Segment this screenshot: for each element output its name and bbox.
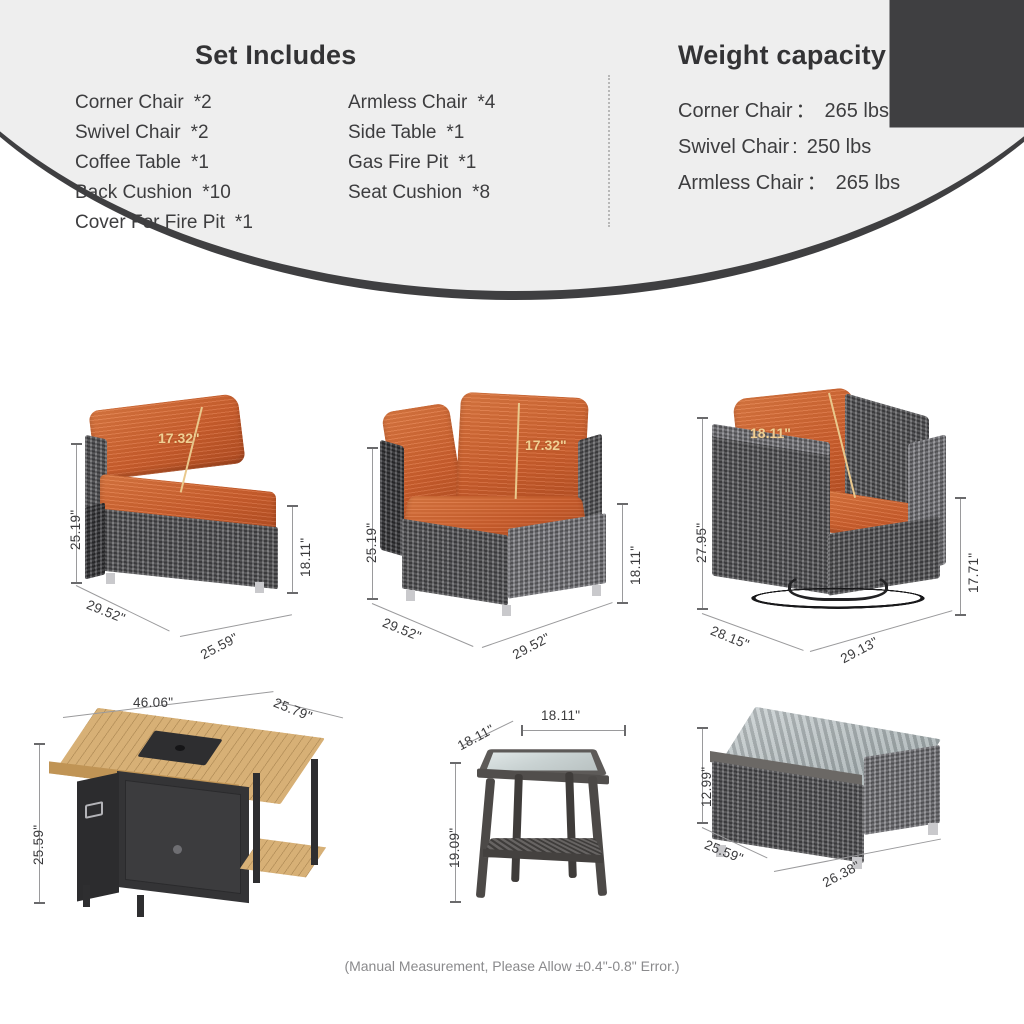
fire-pit-leg xyxy=(311,759,318,865)
item-separator: ： xyxy=(807,172,827,194)
dim-tick xyxy=(521,725,523,736)
includes-column-1: Corner Chair*2 Swivel Chair*2 Coffee Tab… xyxy=(75,88,253,238)
dim-line xyxy=(39,743,40,903)
list-item: Armless Chair*4 xyxy=(348,88,495,118)
item-value: 250 lbs xyxy=(807,136,872,158)
dim-tick xyxy=(697,417,708,419)
dim-tick xyxy=(287,592,298,594)
list-item: Armless Chair：265 lbs xyxy=(678,165,900,201)
set-includes-title: Set Includes xyxy=(195,40,356,71)
fire-pit-height-label: 25.59" xyxy=(31,825,46,865)
list-item: Back Cushion*10 xyxy=(75,178,253,208)
armless-base-side xyxy=(85,503,105,580)
swivel-ring-inner xyxy=(788,571,888,601)
item-qty: *4 xyxy=(477,92,495,113)
item-qty: *2 xyxy=(191,122,209,143)
banner-content: Set Includes Weight capacity Corner Chai… xyxy=(0,0,1024,260)
item-separator: ： xyxy=(795,100,815,122)
item-qty: *1 xyxy=(446,122,464,143)
item-name: Swivel Chair xyxy=(678,136,789,158)
item-name: Back Cushion xyxy=(75,182,192,203)
armless-seat-height-label: 18.11" xyxy=(298,538,313,577)
corner-seat-height-label: 18.11" xyxy=(628,546,643,585)
coffee-table-width-label: 26.38" xyxy=(820,858,863,890)
dim-tick xyxy=(955,497,966,499)
corner-height-label: 25.19" xyxy=(364,523,379,563)
dim-tick xyxy=(367,447,378,449)
corner-depth-label: 29.52" xyxy=(380,615,423,644)
item-qty: *1 xyxy=(458,152,476,173)
product-coffee-table: 12.99" 25.59" 26.38" xyxy=(680,705,1000,915)
list-item: Side Table*1 xyxy=(348,118,495,148)
dim-tick xyxy=(617,503,628,505)
item-name: Corner Chair xyxy=(678,100,792,122)
dim-tick xyxy=(71,443,82,445)
armless-cushion-dimension: 17.32" xyxy=(158,430,200,446)
swivel-height-label: 27.95" xyxy=(694,523,709,563)
corner-foot xyxy=(592,585,601,596)
dim-line xyxy=(292,505,293,593)
dim-line xyxy=(810,610,953,652)
item-separator: : xyxy=(792,136,798,158)
dim-tick xyxy=(367,598,378,600)
item-value: 265 lbs xyxy=(836,172,901,194)
dim-tick xyxy=(617,602,628,604)
fire-pit-cabinet-door[interactable] xyxy=(125,780,241,894)
swivel-width-label: 29.13" xyxy=(838,634,881,666)
item-qty: *1 xyxy=(235,212,253,233)
dim-tick xyxy=(450,901,461,903)
corner-frame-left xyxy=(380,440,404,557)
dim-tick xyxy=(450,762,461,764)
item-name: Swivel Chair xyxy=(75,122,181,143)
corner-foot xyxy=(502,605,511,616)
side-table-leg xyxy=(511,774,523,882)
item-qty: *8 xyxy=(472,182,490,203)
coffee-table-side xyxy=(864,745,940,835)
dim-tick xyxy=(71,582,82,584)
corner-foot xyxy=(406,590,415,601)
fire-pit-leg xyxy=(83,885,90,907)
fire-pit-width-label: 46.06" xyxy=(133,695,173,710)
weight-capacity-title: Weight capacity xyxy=(678,40,886,71)
item-name: Side Table xyxy=(348,122,436,143)
item-name: Armless Chair xyxy=(678,172,804,194)
dim-line xyxy=(521,730,625,731)
side-table-leg xyxy=(565,772,577,878)
item-value: 265 lbs xyxy=(824,100,889,122)
dim-line xyxy=(702,417,703,609)
list-item: Seat Cushion*8 xyxy=(348,178,495,208)
item-name: Armless Chair xyxy=(348,92,467,113)
item-qty: *10 xyxy=(202,182,231,203)
list-item: Cover For Fire Pit*1 xyxy=(75,208,253,238)
item-qty: *1 xyxy=(191,152,209,173)
product-armless-chair: 17.32" 25.19" 18.11" 29.52" 25.59" xyxy=(40,385,330,660)
measurement-disclaimer: (Manual Measurement, Please Allow ±0.4"-… xyxy=(0,958,1024,974)
dim-tick xyxy=(34,902,45,904)
swivel-depth-label: 28.15" xyxy=(708,623,751,652)
fire-pit-depth-label: 25.79" xyxy=(271,695,314,724)
product-corner-chair: 17.32" 25.19" 18.11" 29.52" 29.52" xyxy=(350,385,660,660)
coffee-table-foot xyxy=(928,823,938,835)
item-name: Corner Chair xyxy=(75,92,184,113)
side-table-width-label: 18.11" xyxy=(541,708,580,723)
armless-foot xyxy=(255,582,264,593)
list-item: Swivel Chair*2 xyxy=(75,118,253,148)
list-item: Coffee Table*1 xyxy=(75,148,253,178)
list-item: Gas Fire Pit*1 xyxy=(348,148,495,178)
dim-tick xyxy=(697,822,708,824)
product-side-table: 18.11" 18.11" 19.09" xyxy=(425,700,665,930)
side-table-leg xyxy=(588,776,607,896)
item-name: Gas Fire Pit xyxy=(348,152,448,173)
dim-tick xyxy=(34,743,45,745)
armless-width-label: 25.59" xyxy=(198,630,241,662)
header-column-divider xyxy=(608,75,610,227)
fire-pit-leg xyxy=(253,773,260,883)
armless-depth-label: 29.52" xyxy=(84,597,127,626)
item-name: Cover For Fire Pit xyxy=(75,212,225,233)
fire-pit-leg xyxy=(137,895,144,917)
swivel-seat-height-label: 17.71" xyxy=(966,553,981,593)
dim-line xyxy=(960,497,961,615)
dim-tick xyxy=(697,727,708,729)
fire-pit-cabinet-side xyxy=(77,773,119,902)
product-gas-fire-pit: 46.06" 25.79" 25.59" xyxy=(25,695,345,935)
side-table-height-label: 19.09" xyxy=(447,828,462,868)
list-item: Corner Chair：265 lbs xyxy=(678,93,900,129)
dim-tick xyxy=(624,725,626,736)
coffee-table-height-label: 12.99" xyxy=(699,767,714,807)
corner-cushion-dimension: 17.32" xyxy=(525,437,567,453)
includes-column-2: Armless Chair*4 Side Table*1 Gas Fire Pi… xyxy=(348,88,495,208)
weight-capacity-list: Corner Chair：265 lbs Swivel Chair:250 lb… xyxy=(678,93,900,201)
dim-tick xyxy=(955,614,966,616)
item-name: Coffee Table xyxy=(75,152,181,173)
list-item: Corner Chair*2 xyxy=(75,88,253,118)
armless-foot xyxy=(106,573,115,584)
armless-height-label: 25.19" xyxy=(68,510,83,550)
fire-pit-burner-hole xyxy=(175,745,185,751)
swivel-cushion-dimension: 18.11" xyxy=(750,425,791,441)
fire-pit-door-knob[interactable] xyxy=(173,845,182,854)
dim-tick xyxy=(287,505,298,507)
list-item: Swivel Chair:250 lbs xyxy=(678,129,900,165)
item-name: Seat Cushion xyxy=(348,182,462,203)
dim-tick xyxy=(697,608,708,610)
product-swivel-chair: 18.11" 27.95" 17.71" 28.15" 29.13" xyxy=(680,375,1000,660)
item-qty: *2 xyxy=(194,92,212,113)
dim-line xyxy=(622,503,623,603)
header-banner: Set Includes Weight capacity Corner Chai… xyxy=(0,0,1024,320)
